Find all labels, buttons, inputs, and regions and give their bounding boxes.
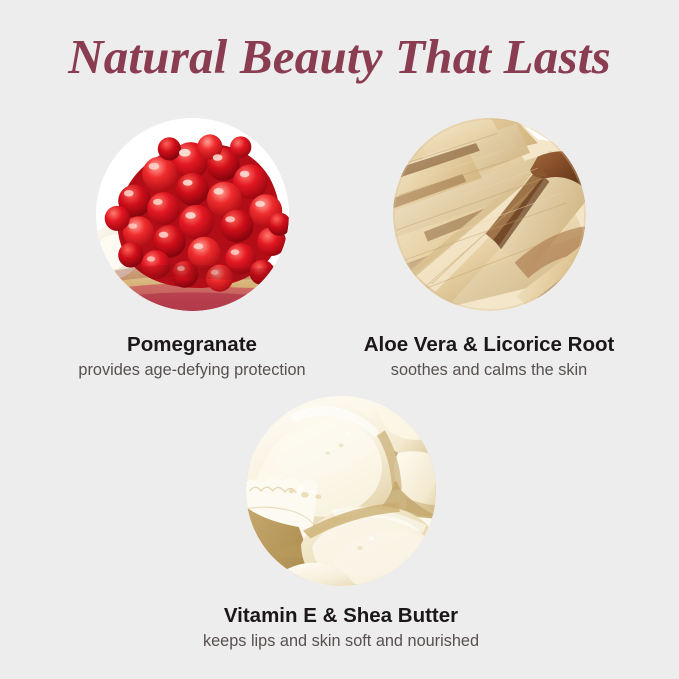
ingredients-infographic: Natural Beauty That Lasts (0, 0, 679, 679)
ingredient-card-shea-butter: Vitamin E & Shea Butter keeps lips and s… (176, 396, 506, 652)
ingredient-title: Aloe Vera & Licorice Root (324, 333, 654, 357)
pomegranate-photo (96, 118, 289, 311)
ingredient-title: Vitamin E & Shea Butter (176, 604, 506, 628)
shea-butter-photo (246, 396, 436, 586)
ingredient-subtitle: keeps lips and skin soft and nourished (176, 631, 506, 652)
page-title: Natural Beauty That Lasts (0, 28, 679, 86)
ingredient-title: Pomegranate (27, 333, 357, 357)
ingredient-card-aloe-licorice: Aloe Vera & Licorice Root soothes and ca… (324, 118, 654, 381)
ingredient-subtitle: provides age-defying protection (27, 360, 357, 381)
ingredient-subtitle: soothes and calms the skin (324, 360, 654, 381)
licorice-root-photo (393, 118, 586, 311)
ingredient-card-pomegranate: Pomegranate provides age-defying protect… (27, 118, 357, 381)
